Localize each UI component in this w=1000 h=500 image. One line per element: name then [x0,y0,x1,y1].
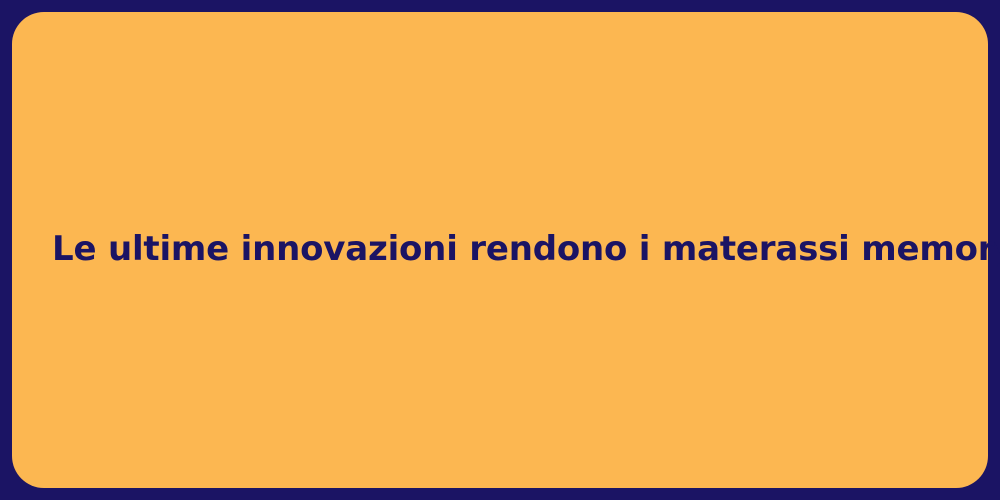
card-canvas: Le ultime innovazioni rendono i materass… [0,0,1000,500]
card-panel: Le ultime innovazioni rendono i materass… [12,12,988,488]
page-title: Le ultime innovazioni rendono i materass… [12,229,988,270]
